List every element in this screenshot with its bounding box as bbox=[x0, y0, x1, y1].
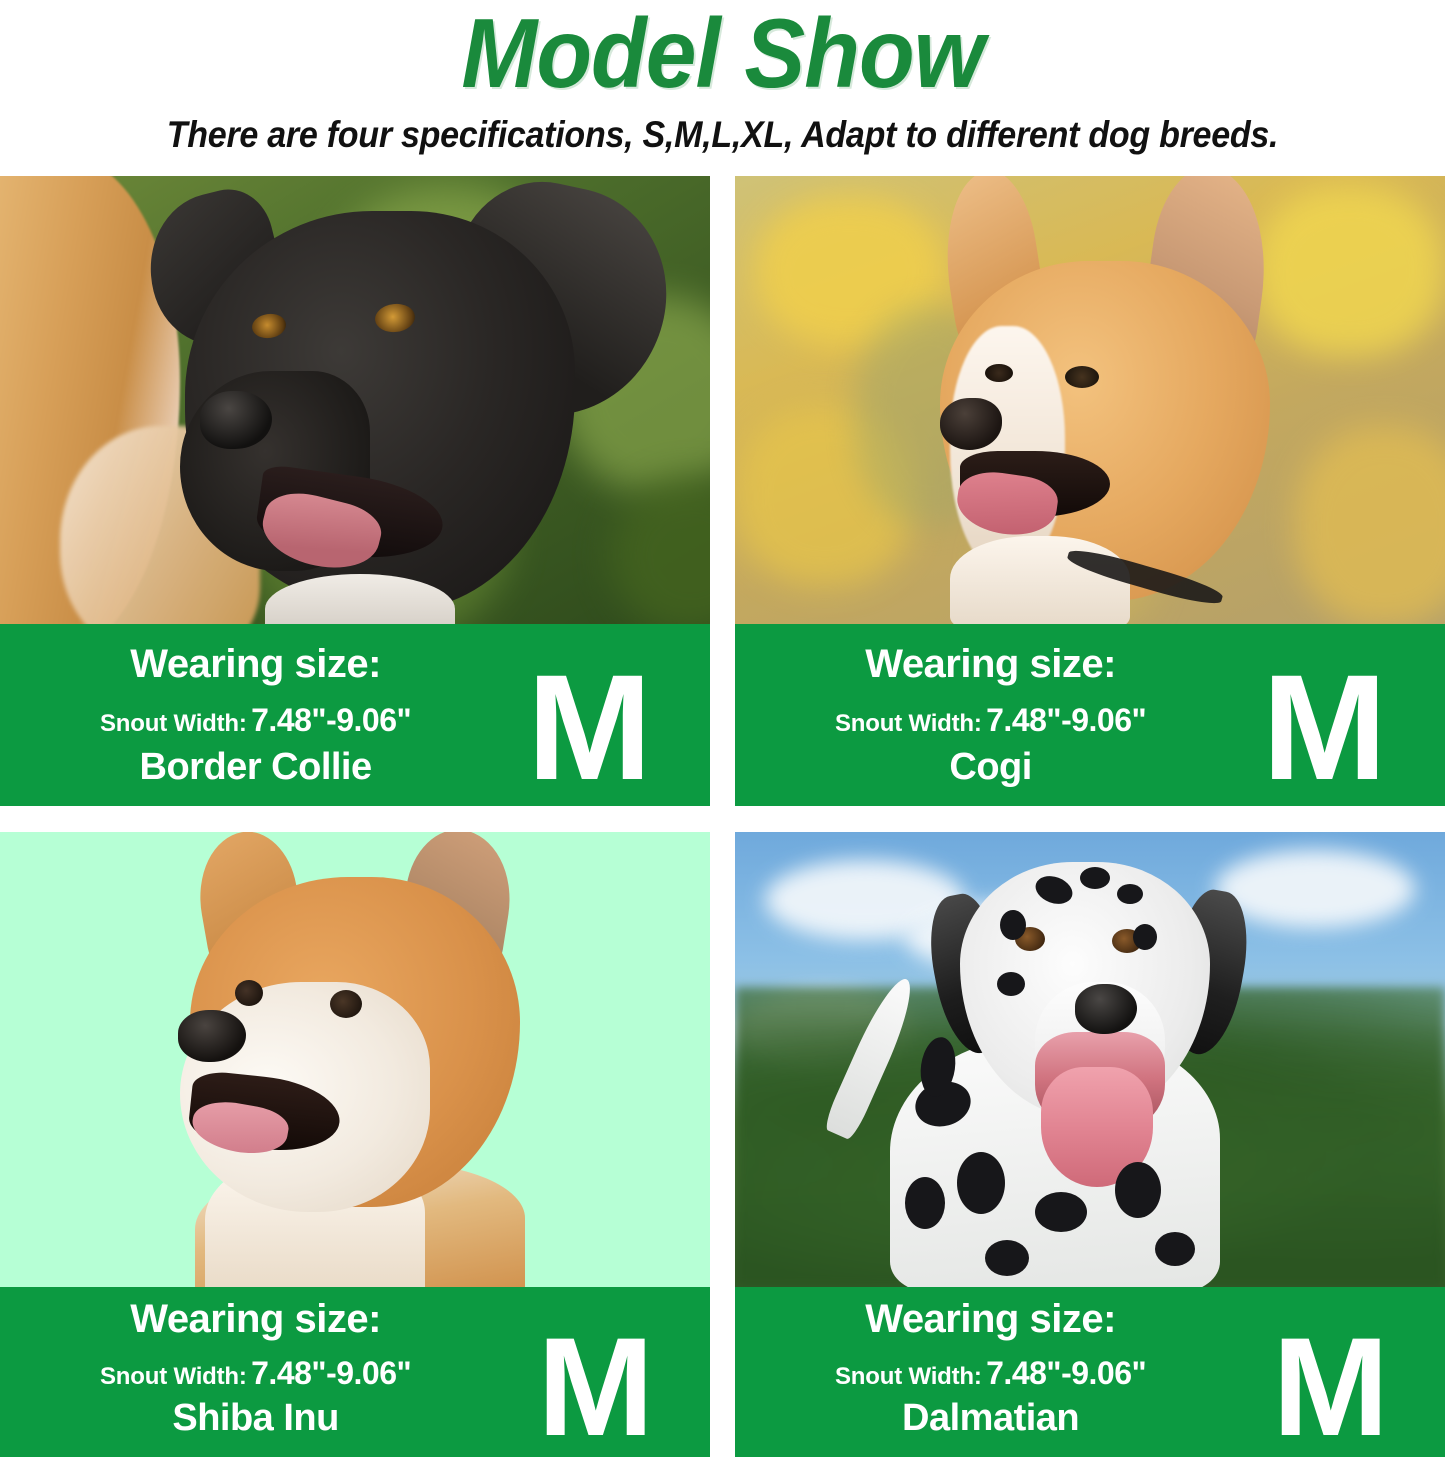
background-bokeh bbox=[1295, 426, 1445, 626]
size-label-text-block: Wearing size: Snout Width: 7.48"-9.06" S… bbox=[0, 1287, 511, 1457]
dalmatian-spot bbox=[1080, 867, 1110, 889]
size-label-bar: Wearing size: Snout Width: 7.48"-9.06" C… bbox=[735, 624, 1445, 806]
breed-card-cogi[interactable]: Wearing size: Snout Width: 7.48"-9.06" C… bbox=[735, 176, 1445, 806]
background-bokeh bbox=[1255, 186, 1445, 356]
snout-width-value: 7.48"-9.06" bbox=[986, 1355, 1146, 1391]
dog-chest bbox=[950, 536, 1130, 626]
dalmatian-spot bbox=[1133, 924, 1157, 950]
dalmatian-spot bbox=[985, 1240, 1029, 1276]
size-label-text-block: Wearing size: Snout Width: 7.48"-9.06" C… bbox=[735, 624, 1246, 806]
snout-width-label: Snout Width: bbox=[100, 1363, 247, 1390]
page-title: Model Show bbox=[51, 2, 1395, 105]
size-badge: M bbox=[537, 1317, 650, 1457]
dog-eye-right bbox=[1065, 366, 1099, 388]
dalmatian-spot bbox=[1115, 1162, 1161, 1218]
dalmatian-spot bbox=[997, 972, 1025, 996]
dalmatian-spot bbox=[1035, 1192, 1087, 1232]
background-bokeh bbox=[610, 476, 710, 626]
snout-width-value: 7.48"-9.06" bbox=[251, 1355, 411, 1391]
size-badge: M bbox=[527, 652, 648, 802]
wearing-size-label: Wearing size: bbox=[0, 1297, 511, 1342]
breed-card-shiba-inu[interactable]: Wearing size: Snout Width: 7.48"-9.06" S… bbox=[0, 832, 710, 1457]
wearing-size-label: Wearing size: bbox=[735, 1297, 1246, 1342]
snout-width-label: Snout Width: bbox=[835, 1363, 982, 1390]
dalmatian-spot bbox=[1155, 1232, 1195, 1266]
dog-eye-left bbox=[235, 980, 263, 1006]
snout-width-line: Snout Width: 7.48"-9.06" bbox=[0, 702, 511, 739]
size-badge: M bbox=[1262, 652, 1383, 802]
snout-width-value: 7.48"-9.06" bbox=[986, 702, 1146, 738]
size-badge: M bbox=[1272, 1317, 1385, 1457]
dalmatian-spot bbox=[905, 1177, 945, 1229]
model-show-infographic: Model Show There are four specifications… bbox=[0, 0, 1445, 1457]
border-collie-photo bbox=[0, 176, 710, 626]
shiba-inu-photo bbox=[0, 832, 710, 1287]
size-label-text-block: Wearing size: Snout Width: 7.48"-9.06" D… bbox=[735, 1287, 1246, 1457]
page-subtitle: There are four specifications, S,M,L,XL,… bbox=[58, 114, 1387, 156]
snout-width-label: Snout Width: bbox=[835, 710, 982, 737]
breed-name: Border Collie bbox=[0, 746, 511, 789]
wearing-size-label: Wearing size: bbox=[735, 642, 1246, 687]
dog-eye-right bbox=[330, 990, 362, 1018]
header: Model Show There are four specifications… bbox=[0, 0, 1445, 175]
dalmatian-photo bbox=[735, 832, 1445, 1287]
breed-name: Cogi bbox=[735, 746, 1246, 789]
breed-name: Shiba Inu bbox=[0, 1397, 511, 1440]
size-label-bar: Wearing size: Snout Width: 7.48"-9.06" S… bbox=[0, 1287, 710, 1457]
snout-width-label: Snout Width: bbox=[100, 710, 247, 737]
dog-eye-left bbox=[985, 364, 1013, 382]
dalmatian-spot bbox=[1000, 910, 1026, 940]
breed-card-grid: Wearing size: Snout Width: 7.48"-9.06" B… bbox=[0, 176, 1445, 1457]
size-label-text-block: Wearing size: Snout Width: 7.48"-9.06" B… bbox=[0, 624, 511, 806]
snout-width-line: Snout Width: 7.48"-9.06" bbox=[735, 702, 1246, 739]
snout-width-line: Snout Width: 7.48"-9.06" bbox=[735, 1355, 1246, 1392]
size-label-bar: Wearing size: Snout Width: 7.48"-9.06" B… bbox=[0, 624, 710, 806]
cogi-photo bbox=[735, 176, 1445, 626]
dalmatian-spot bbox=[1117, 884, 1143, 904]
cloud bbox=[1215, 850, 1415, 928]
snout-width-line: Snout Width: 7.48"-9.06" bbox=[0, 1355, 511, 1392]
breed-card-dalmatian[interactable]: Wearing size: Snout Width: 7.48"-9.06" D… bbox=[735, 832, 1445, 1457]
breed-name: Dalmatian bbox=[735, 1397, 1246, 1440]
snout-width-value: 7.48"-9.06" bbox=[251, 702, 411, 738]
breed-card-border-collie[interactable]: Wearing size: Snout Width: 7.48"-9.06" B… bbox=[0, 176, 710, 806]
wearing-size-label: Wearing size: bbox=[0, 642, 511, 687]
dalmatian-spot bbox=[957, 1152, 1005, 1214]
size-label-bar: Wearing size: Snout Width: 7.48"-9.06" D… bbox=[735, 1287, 1445, 1457]
